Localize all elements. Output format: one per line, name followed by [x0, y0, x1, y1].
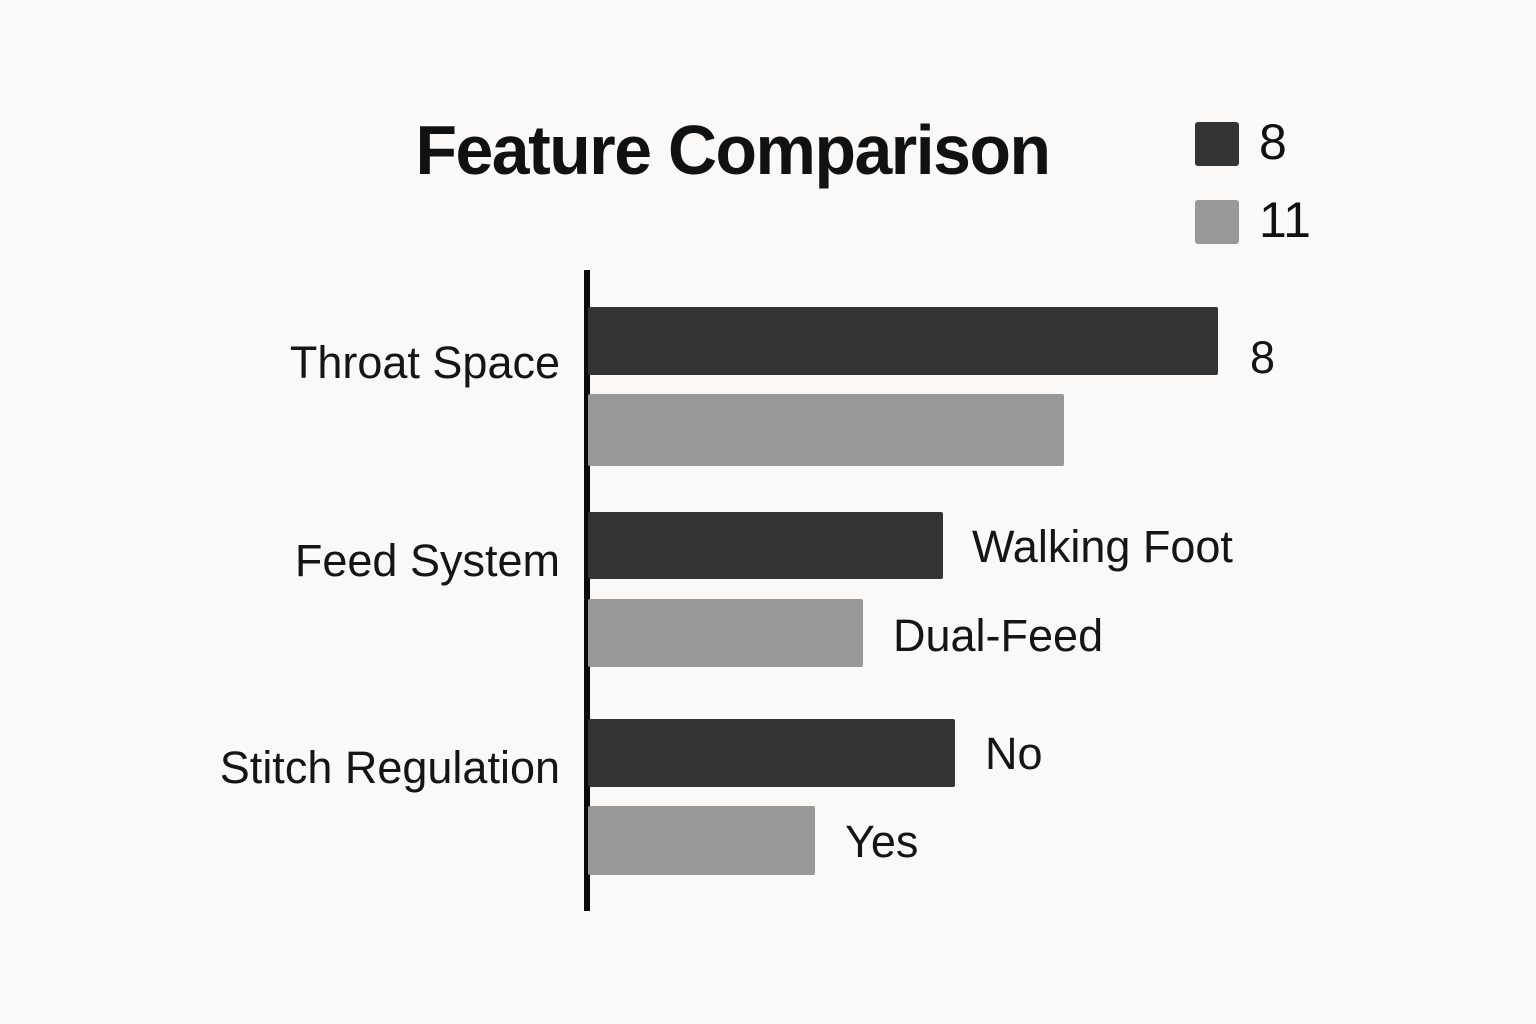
bar-value-feed-system-series-b: Dual-Feed [893, 611, 1103, 661]
plot-area: Throat Space 8 Feed System Walking Foot … [0, 0, 1536, 1024]
bar-throat-space-series-a[interactable] [588, 307, 1218, 375]
category-label-stitch-regulation: Stitch Regulation [100, 743, 560, 793]
bar-feed-system-series-a[interactable] [588, 512, 943, 579]
bar-feed-system-series-b[interactable] [588, 599, 863, 667]
category-label-throat-space: Throat Space [160, 338, 560, 388]
bar-value-feed-system-series-a: Walking Foot [972, 522, 1233, 572]
bar-throat-space-series-b[interactable] [588, 394, 1064, 466]
bar-value-stitch-regulation-series-a: No [985, 729, 1043, 779]
bar-chart: Feature Comparison 8 11 Throat Space 8 F… [0, 0, 1536, 1024]
bar-stitch-regulation-series-b[interactable] [588, 806, 815, 875]
category-label-feed-system: Feed System [160, 536, 560, 586]
bar-value-throat-space-series-a: 8 [1250, 333, 1275, 383]
bar-stitch-regulation-series-a[interactable] [588, 719, 955, 787]
bar-value-stitch-regulation-series-b: Yes [845, 817, 918, 867]
